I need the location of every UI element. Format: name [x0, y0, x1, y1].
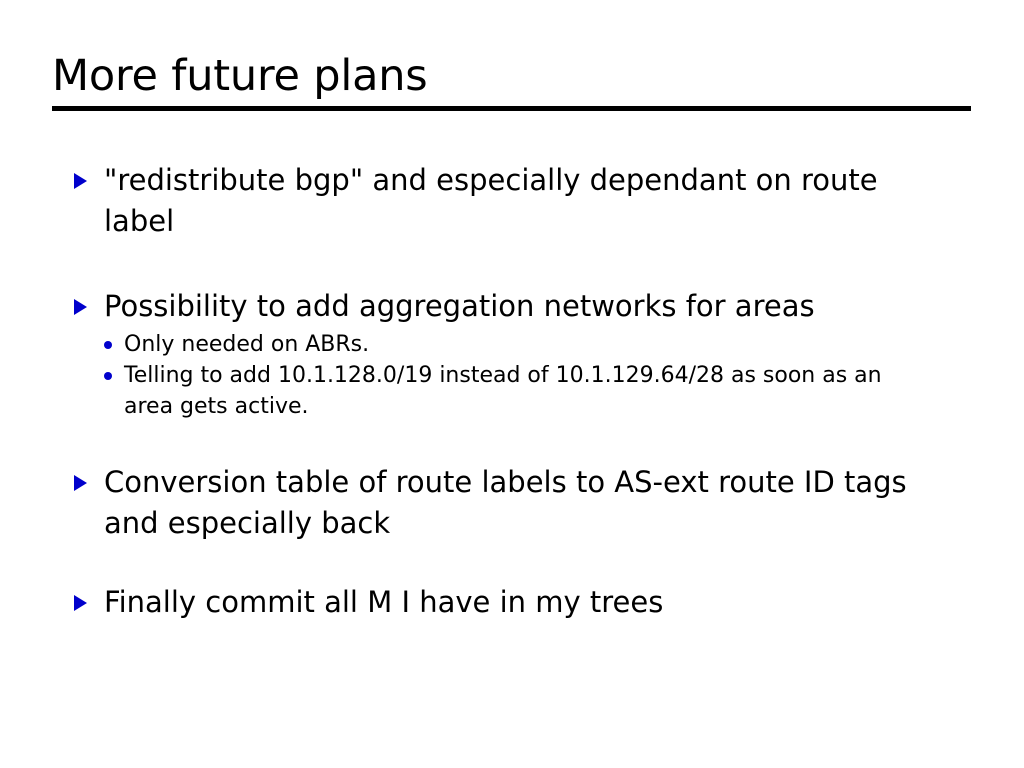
list-item: Conversion table of route labels to AS-e…	[74, 462, 974, 544]
bullet-group: Possibility to add aggregation networks …	[74, 286, 974, 422]
slide-body: "redistribute bgp" and especially depend…	[74, 160, 974, 623]
bullet-text: Conversion table of route labels to AS-e…	[104, 462, 974, 544]
triangle-right-icon	[74, 462, 104, 491]
spacer	[74, 422, 974, 462]
list-item: Only needed on ABRs.	[104, 329, 974, 360]
sub-bullet-list: Only needed on ABRs. Telling to add 10.1…	[74, 329, 974, 422]
spacer	[74, 544, 974, 582]
dot-icon	[104, 329, 124, 349]
triangle-right-icon	[74, 286, 104, 315]
list-item: Possibility to add aggregation networks …	[74, 286, 974, 327]
title-block: More future plans	[52, 52, 972, 111]
triangle-right-icon	[74, 582, 104, 611]
triangle-right-icon	[74, 160, 104, 189]
bullet-text: Possibility to add aggregation networks …	[104, 286, 974, 327]
title-underline-rule	[52, 106, 971, 111]
sub-bullet-text: Only needed on ABRs.	[124, 329, 974, 360]
list-item: Finally commit all M I have in my trees	[74, 582, 974, 623]
bullet-group: Finally commit all M I have in my trees	[74, 582, 974, 623]
sub-bullet-text: Telling to add 10.1.128.0/19 instead of …	[124, 360, 974, 422]
list-item: "redistribute bgp" and especially depend…	[74, 160, 974, 242]
spacer	[74, 242, 974, 286]
bullet-group: Conversion table of route labels to AS-e…	[74, 462, 974, 544]
bullet-group: "redistribute bgp" and especially depend…	[74, 160, 974, 242]
bullet-text: "redistribute bgp" and especially depend…	[104, 160, 974, 242]
page-title: More future plans	[52, 52, 972, 100]
bullet-text: Finally commit all M I have in my trees	[104, 582, 974, 623]
dot-icon	[104, 360, 124, 380]
presentation-slide: More future plans "redistribute bgp" and…	[0, 0, 1024, 768]
list-item: Telling to add 10.1.128.0/19 instead of …	[104, 360, 974, 422]
